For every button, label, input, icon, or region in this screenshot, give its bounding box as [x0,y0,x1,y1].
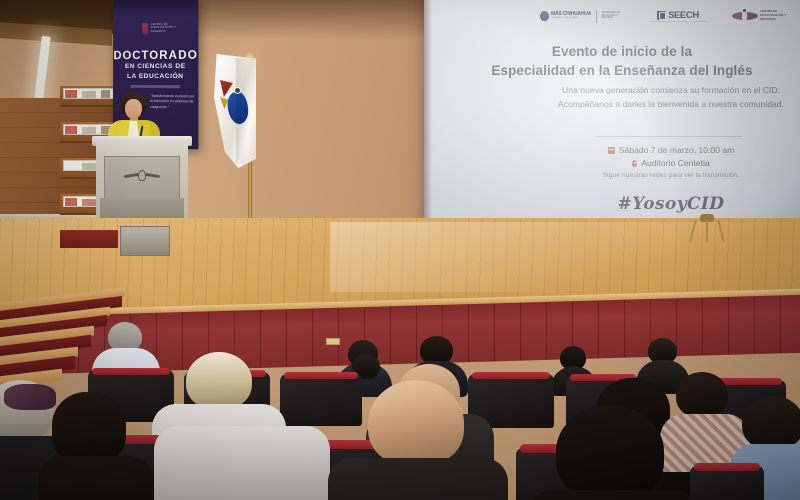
slide-title: Evento de inicio de la Especialidad en l… [432,42,800,80]
logo-divider [596,10,597,23]
banner-title: DOCTORADO [113,50,198,63]
calendar-icon [608,147,615,154]
logo-mas-chihuahua-sub: GOBIERNO DEL ESTADO [551,17,591,19]
banner-logo-mark [142,23,148,34]
location-pin-icon [632,160,637,167]
logo-cid: CENTRO DE INVESTIGACIÓN Y DOCENCIA [732,10,790,21]
slide-body-text: Una nueva generación comienza su formaci… [540,84,800,112]
cid-mark-icon [732,10,758,21]
flag-fold [236,58,248,164]
seech-book-icon [657,11,666,20]
banner-divider [130,85,180,88]
seat-trim [284,372,358,379]
stage-reflection [330,222,800,292]
banner-subtitle-line2: LA EDUCACIÓN [113,72,198,82]
chihuahua-shield-icon [540,11,549,21]
screen-left-edge [424,0,432,246]
banner-subtitle: EN CIENCIAS DE LA EDUCACIÓN [113,62,198,81]
logo-seech: SEECH SERVICIOS EDUCATIVOS DEL ESTADO DE… [650,10,707,23]
slide-note: Sigue nuestras redes para ver la transmi… [540,172,800,179]
banner-org-label: CENTRO DE INVESTIGACIÓN Y DOCENCIA [151,22,189,33]
slide-meta: Sábado 7 de marzo, 10:00 am Auditorio Ce… [540,144,800,171]
seat[interactable] [690,466,764,500]
slide-venue: Auditorio Centetia [641,157,709,170]
logo-mas-chihuahua: MÁS CHIHUAHUA GOBIERNO DEL ESTADO SECRET… [540,10,624,23]
slide-date-row: Sábado 7 de marzo, 10:00 am [540,144,800,157]
banner-logo: CENTRO DE INVESTIGACIÓN Y DOCENCIA [142,19,188,36]
audience-area [0,318,800,500]
logo-seech-sub: SERVICIOS EDUCATIVOS DEL ESTADO DE CHIHU… [650,21,707,23]
logo-seech-wordmark: SEECH [668,10,699,21]
slide-divider [596,136,742,137]
slide-hashtag: #YosoyCID [540,194,800,214]
podium-emblem-icon [124,168,160,184]
slide-date: Sábado 7 de marzo, 10:00 am [619,144,735,157]
slide-venue-row: Auditorio Centetia [540,157,800,170]
banner-top-shade [113,0,198,17]
auditorium-event-photo: CENTRO DE INVESTIGACIÓN Y DOCENCIA DOCTO… [0,0,800,500]
logo-cid-text: CENTRO DE INVESTIGACIÓN Y DOCENCIA [760,10,790,21]
slide-logo-bar: MÁS CHIHUAHUA GOBIERNO DEL ESTADO SECRET… [540,4,790,28]
stage-speaker-cabinet [120,226,170,256]
seat-trim [694,463,760,471]
tripod-stand [690,214,724,242]
stage-riser-box [60,230,118,248]
seat-trim [472,372,550,379]
logo-mas-chihuahua-secondary: SECRETARÍA DE EDUCACIÓN Y DEPORTE [602,12,624,21]
slide-title-line1: Evento de inicio de la [432,42,800,61]
seat-trim [92,368,170,375]
banner-subtitle-line1: EN CIENCIAS DE [113,62,198,72]
seat[interactable] [280,374,362,426]
slide-title-line2: Especialidad en la Enseñanza del Inglés [432,61,800,80]
